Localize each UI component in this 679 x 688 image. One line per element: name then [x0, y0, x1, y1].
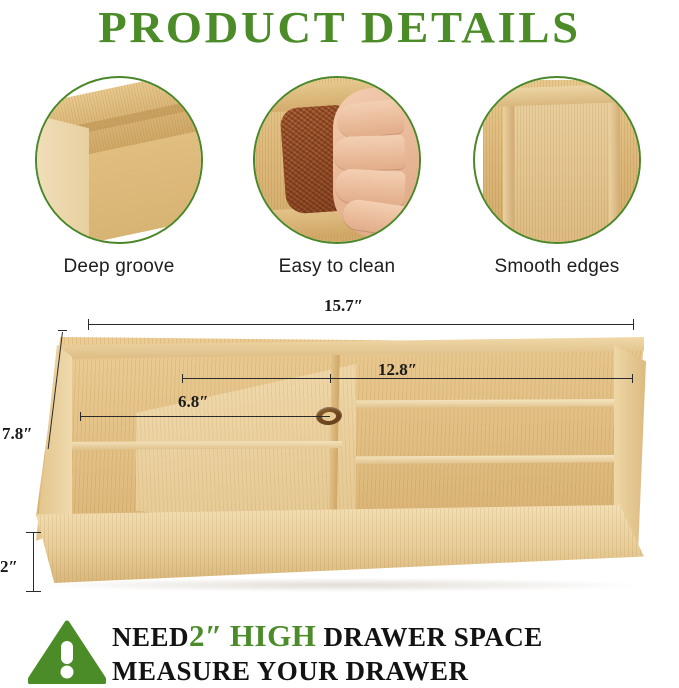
feature-item-easy-to-clean: Easy to clean [240, 76, 434, 278]
feature-item-smooth-edges: Smooth edges [460, 76, 654, 278]
dimension-line-right-width [330, 378, 633, 379]
dimension-line-left-width-lower [80, 416, 330, 417]
dimension-label-left-width: 6.8″ [178, 392, 209, 412]
dimension-tick-left [80, 412, 81, 421]
tray-left-wall [36, 345, 72, 541]
dimension-tick-left [330, 374, 331, 383]
dimension-label-overall-width: 15.7″ [324, 296, 363, 316]
warning-need-text: NEED [112, 622, 189, 652]
product-details-infographic: PRODUCT DETAILS Deep groove [0, 0, 679, 688]
feature-highlights: Deep groove Easy to clean [0, 76, 679, 281]
dimension-line-height [33, 532, 34, 592]
dimension-tick-bottom [26, 591, 41, 592]
dimension-tick-right [632, 374, 633, 383]
dimension-label-right-width: 12.8″ [378, 360, 417, 380]
feature-image-deep-groove [35, 76, 203, 244]
dimension-tick-top [26, 532, 41, 533]
finger [334, 168, 406, 206]
dimension-line-left-width-upper [182, 378, 330, 379]
feature-label-easy-to-clean: Easy to clean [240, 256, 434, 278]
dimension-tick-right [633, 319, 634, 330]
bamboo-divider [609, 100, 620, 242]
feature-image-smooth-edges [473, 76, 641, 244]
finger [335, 99, 404, 140]
bamboo-side-face [37, 112, 89, 242]
bamboo-tray-illustration [0, 292, 679, 610]
warning-triangle-icon [28, 620, 106, 684]
feature-image-easy-to-clean [253, 76, 421, 244]
warning-text-block: NEED2″ HIGH DRAWER SPACE MEASURE YOUR DR… [112, 618, 543, 687]
warning-high-text: HIGH [230, 618, 316, 653]
warning-measure-text: 2″ [189, 618, 223, 653]
drawer-space-warning: NEED2″ HIGH DRAWER SPACE MEASURE YOUR DR… [0, 614, 679, 688]
dimension-tick-left [182, 374, 183, 383]
dimension-label-depth: 7.8″ [2, 424, 33, 444]
feature-label-deep-groove: Deep groove [22, 256, 216, 278]
dimension-tick-top [58, 330, 67, 331]
dimension-line-overall-width [88, 324, 634, 325]
warning-line-2: MEASURE YOUR DRAWER [112, 656, 543, 687]
feature-item-deep-groove: Deep groove [22, 76, 216, 278]
bamboo-divider [503, 100, 514, 242]
bamboo-compartment-floor [514, 102, 610, 242]
feature-label-smooth-edges: Smooth edges [460, 256, 654, 278]
dimension-label-height: 2″ [0, 557, 18, 577]
product-dimension-diagram: 15.7″ 12.8″ 6.8″ 7.8″ 2″ [0, 292, 679, 610]
warning-line-1: NEED2″ HIGH DRAWER SPACE [112, 618, 543, 654]
warning-drawer-space-text: DRAWER SPACE [324, 622, 543, 652]
tray-shadow [40, 578, 640, 592]
dimension-tick-left [88, 319, 89, 330]
finger [332, 135, 405, 171]
page-title: PRODUCT DETAILS [0, 2, 679, 53]
tray-front-wall [36, 505, 644, 583]
